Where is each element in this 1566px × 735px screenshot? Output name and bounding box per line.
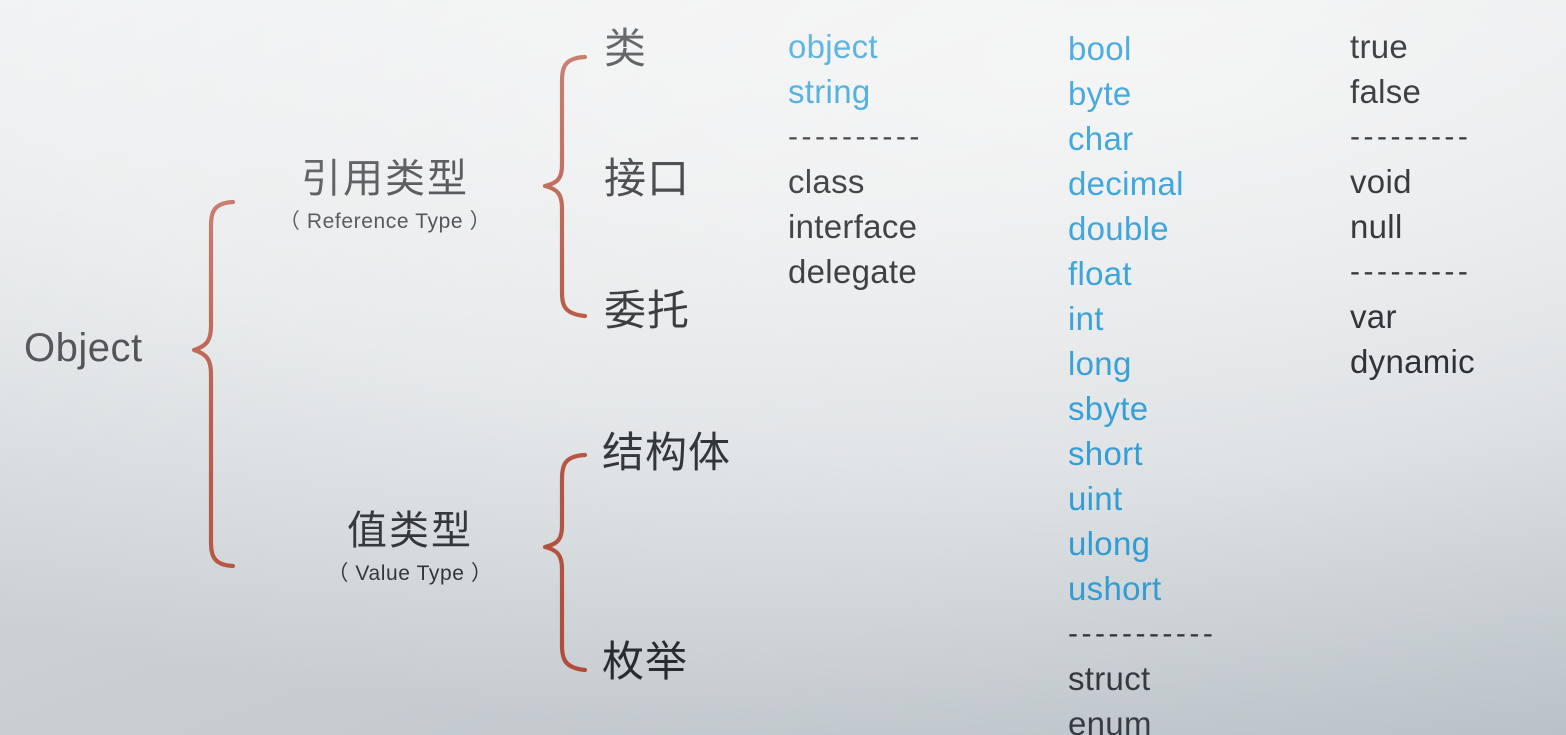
reference-type-brace <box>545 57 585 316</box>
keyword-item: int <box>1068 296 1216 341</box>
keyword-column-value-types: boolbytechardecimaldoublefloatintlongsby… <box>1068 26 1216 735</box>
branch-heading-reference-type: 引用类型 （ Reference Type ） <box>255 158 515 238</box>
keyword-item: ulong <box>1068 521 1216 566</box>
keyword-item: struct <box>1068 656 1216 701</box>
keyword-item: ushort <box>1068 566 1216 611</box>
keyword-separator: --------- <box>1350 114 1475 159</box>
keyword-item: enum <box>1068 701 1216 735</box>
keyword-item: float <box>1068 251 1216 296</box>
keyword-column-misc-keywords: truefalse---------voidnull---------vardy… <box>1350 24 1475 384</box>
keyword-item: char <box>1068 116 1216 161</box>
leaf-node-interface: 接口 <box>604 158 690 200</box>
keyword-item: false <box>1350 69 1475 114</box>
brace-connectors-group <box>0 0 1566 735</box>
branch-heading-value-type-zh: 值类型 <box>295 510 525 552</box>
background-sheen-overlay <box>0 0 1566 735</box>
branch-heading-value-type: 值类型 （ Value Type ） <box>295 510 525 590</box>
keyword-item: void <box>1350 159 1475 204</box>
keyword-separator: ---------- <box>788 114 923 159</box>
type-hierarchy-diagram: Object 引用类型 （ Reference Type ） 值类型 （ Val… <box>0 0 1566 735</box>
leaf-node-class: 类 <box>604 28 647 70</box>
keyword-item: sbyte <box>1068 386 1216 431</box>
keyword-item: interface <box>788 204 923 249</box>
keyword-item: uint <box>1068 476 1216 521</box>
root-brace <box>194 202 233 566</box>
keyword-item: dynamic <box>1350 339 1475 384</box>
keyword-item: class <box>788 159 923 204</box>
keyword-column-reference-types: objectstring----------classinterfacedele… <box>788 24 923 294</box>
keyword-item: bool <box>1068 26 1216 71</box>
keyword-item: long <box>1068 341 1216 386</box>
leaf-node-delegate: 委托 <box>604 290 690 332</box>
root-node-object: Object <box>24 328 143 368</box>
keyword-item: true <box>1350 24 1475 69</box>
keyword-item: double <box>1068 206 1216 251</box>
branch-heading-reference-type-en: （ Reference Type ） <box>255 206 515 238</box>
value-type-brace <box>545 455 585 670</box>
keyword-item: null <box>1350 204 1475 249</box>
keyword-item: object <box>788 24 923 69</box>
leaf-node-struct: 结构体 <box>602 432 731 474</box>
keyword-item: short <box>1068 431 1216 476</box>
keyword-item: string <box>788 69 923 114</box>
keyword-separator: --------- <box>1350 249 1475 294</box>
keyword-item: var <box>1350 294 1475 339</box>
branch-heading-reference-type-zh: 引用类型 <box>255 158 515 200</box>
keyword-separator: ----------- <box>1068 611 1216 656</box>
keyword-item: byte <box>1068 71 1216 116</box>
branch-heading-value-type-en: （ Value Type ） <box>295 558 525 590</box>
keyword-item: decimal <box>1068 161 1216 206</box>
keyword-item: delegate <box>788 249 923 294</box>
leaf-node-enum: 枚举 <box>602 641 688 683</box>
